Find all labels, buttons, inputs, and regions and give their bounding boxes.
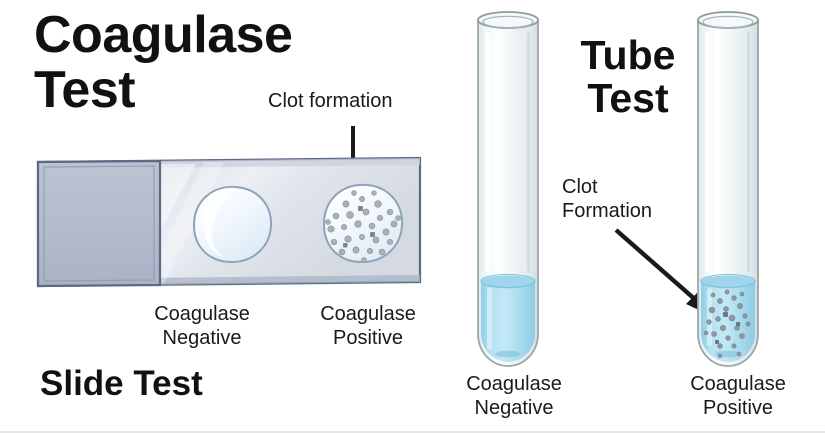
caption-tube-negative: Coagulase Negative: [424, 373, 604, 420]
caption-tube-positive: Coagulase Positive: [648, 373, 825, 420]
test-tube-positive: [690, 6, 766, 372]
slide-test-heading: Slide Test: [40, 366, 300, 403]
caption-slide-negative-line1: Coagulase: [118, 303, 286, 327]
caption-slide-negative-line2: Negative: [118, 327, 286, 351]
figure-canvas: Coagulase Test Clot formation: [0, 0, 825, 433]
slide-drop-negative: [194, 187, 271, 262]
tube-test-heading: Tube Test: [558, 34, 698, 120]
caption-slide-negative: Coagulase Negative: [118, 303, 286, 350]
caption-tube-negative-line1: Coagulase: [424, 373, 604, 397]
caption-slide-positive-line2: Positive: [284, 327, 452, 351]
caption-tube-positive-line1: Coagulase: [648, 373, 825, 397]
caption-tube-negative-line2: Negative: [424, 397, 604, 421]
test-tube-negative: [470, 6, 546, 372]
slide-clot-callout-label: Clot formation: [268, 90, 468, 113]
tube-test-heading-line1: Tube: [558, 34, 698, 77]
slide-drop-positive: [324, 185, 402, 263]
tube-test-heading-line2: Test: [558, 77, 698, 120]
caption-tube-positive-line2: Positive: [648, 397, 825, 421]
microscope-slide: [28, 152, 428, 294]
caption-slide-positive: Coagulase Positive: [284, 303, 452, 350]
caption-slide-positive-line1: Coagulase: [284, 303, 452, 327]
page-title-line1: Coagulase: [34, 8, 454, 63]
